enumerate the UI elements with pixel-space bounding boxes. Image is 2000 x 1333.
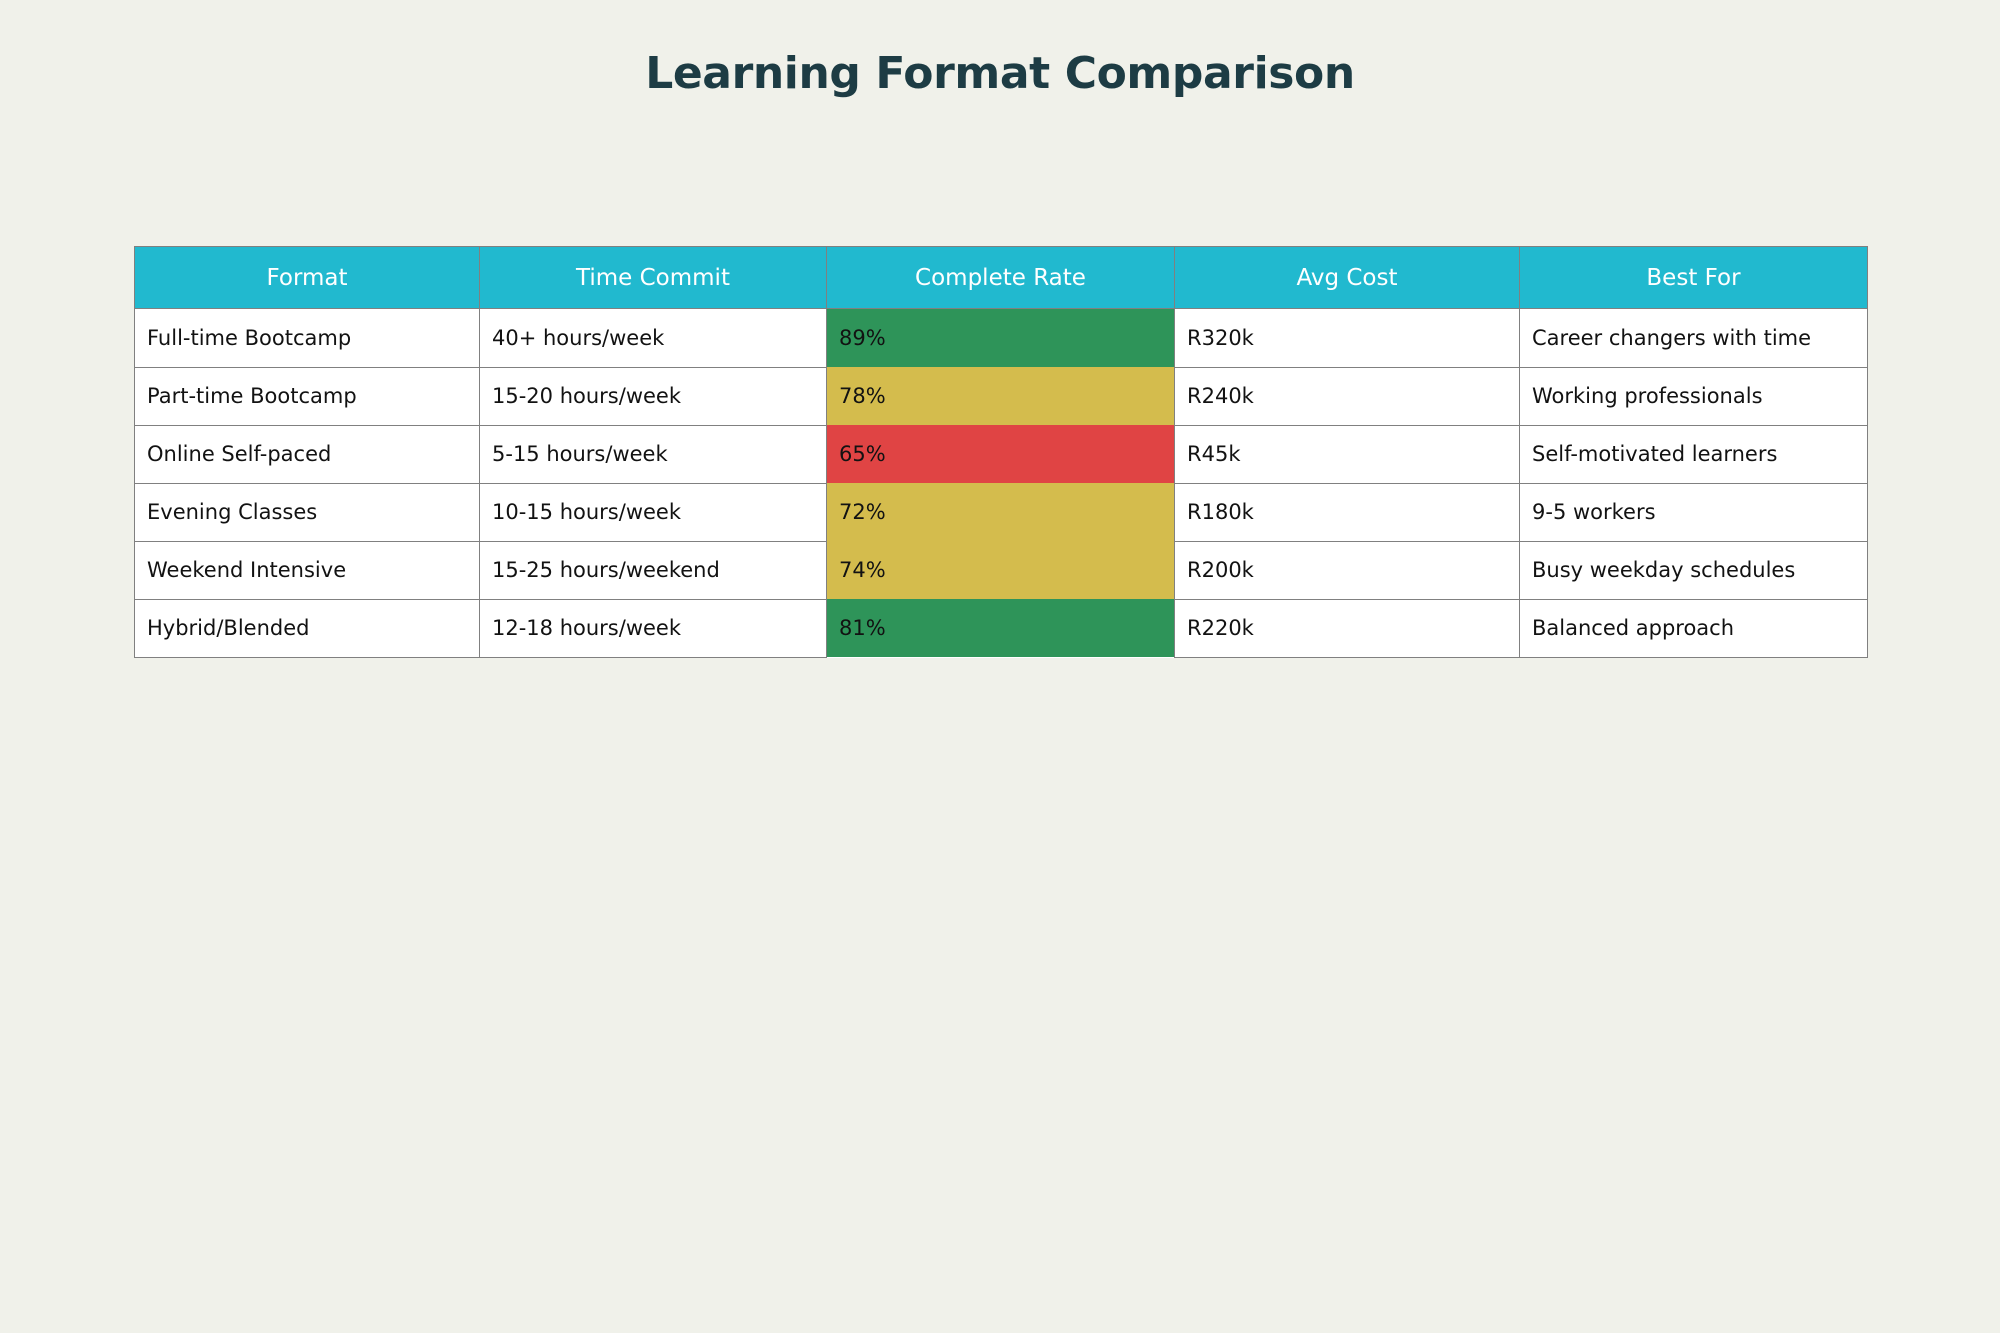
cell-best-for: Self-motivated learners [1520,425,1868,483]
cell-format: Evening Classes [135,483,480,541]
table-header: Format Time Commit Complete Rate Avg Cos… [135,247,1868,309]
complete-rate-label: 81% [827,599,1174,657]
cell-complete-rate: 89% [827,309,1175,368]
table-row: Full-time Bootcamp 40+ hours/week 89% R3… [135,309,1868,368]
table-row: Weekend Intensive 15-25 hours/weekend 74… [135,541,1868,599]
column-header-time-commit[interactable]: Time Commit [480,247,827,309]
cell-avg-cost: R240k [1175,367,1520,425]
table-row: Hybrid/Blended 12-18 hours/week 81% R220… [135,599,1868,657]
cell-best-for: Working professionals [1520,367,1868,425]
column-header-format[interactable]: Format [135,247,480,309]
cell-complete-rate: 74% [827,541,1175,599]
table-row: Part-time Bootcamp 15-20 hours/week 78% … [135,367,1868,425]
cell-avg-cost: R200k [1175,541,1520,599]
cell-best-for: Balanced approach [1520,599,1868,657]
cell-time-commit: 15-20 hours/week [480,367,827,425]
cell-avg-cost: R220k [1175,599,1520,657]
complete-rate-label: 74% [827,541,1174,599]
page-title: Learning Format Comparison [0,48,2000,99]
table-row: Evening Classes 10-15 hours/week 72% R18… [135,483,1868,541]
cell-time-commit: 12-18 hours/week [480,599,827,657]
cell-complete-rate: 78% [827,367,1175,425]
cell-best-for: Busy weekday schedules [1520,541,1868,599]
cell-complete-rate: 65% [827,425,1175,483]
cell-time-commit: 15-25 hours/weekend [480,541,827,599]
cell-format: Online Self-paced [135,425,480,483]
cell-format: Part-time Bootcamp [135,367,480,425]
complete-rate-label: 89% [827,309,1174,367]
complete-rate-label: 78% [827,367,1174,425]
column-header-complete-rate[interactable]: Complete Rate [827,247,1175,309]
cell-time-commit: 5-15 hours/week [480,425,827,483]
cell-complete-rate: 81% [827,599,1175,657]
table-body: Full-time Bootcamp 40+ hours/week 89% R3… [135,309,1868,658]
comparison-table-container: Format Time Commit Complete Rate Avg Cos… [134,246,1867,658]
table-header-row: Format Time Commit Complete Rate Avg Cos… [135,247,1868,309]
cell-complete-rate: 72% [827,483,1175,541]
learning-format-comparison-table: Format Time Commit Complete Rate Avg Cos… [134,246,1868,658]
complete-rate-label: 72% [827,483,1174,541]
table-row: Online Self-paced 5-15 hours/week 65% R4… [135,425,1868,483]
cell-time-commit: 40+ hours/week [480,309,827,368]
cell-best-for: Career changers with time [1520,309,1868,368]
cell-format: Hybrid/Blended [135,599,480,657]
cell-time-commit: 10-15 hours/week [480,483,827,541]
column-header-avg-cost[interactable]: Avg Cost [1175,247,1520,309]
cell-avg-cost: R320k [1175,309,1520,368]
complete-rate-label: 65% [827,425,1174,483]
column-header-best-for[interactable]: Best For [1520,247,1868,309]
cell-avg-cost: R180k [1175,483,1520,541]
cell-format: Full-time Bootcamp [135,309,480,368]
cell-format: Weekend Intensive [135,541,480,599]
cell-avg-cost: R45k [1175,425,1520,483]
cell-best-for: 9-5 workers [1520,483,1868,541]
